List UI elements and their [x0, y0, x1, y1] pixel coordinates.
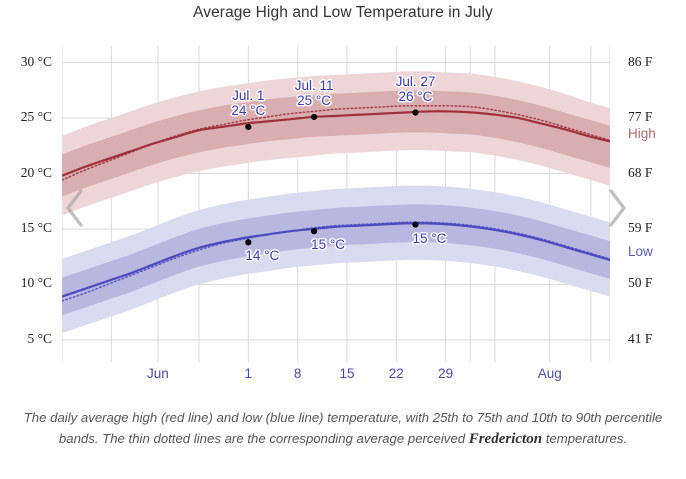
x-axis-tick: Aug	[538, 366, 562, 381]
plot-canvas	[62, 46, 610, 362]
y-axis-left: 30 °C25 °C20 °C15 °C10 °C5 °C	[0, 46, 57, 362]
x-axis-tick: 29	[438, 366, 453, 381]
y-axis-right-tick: 86 F	[628, 54, 652, 70]
y-axis-right-tick: 59 F	[628, 220, 652, 236]
y-axis-right-tick: 77 F	[628, 109, 652, 125]
x-axis-tick: 1	[245, 366, 253, 381]
page-title: Average High and Low Temperature in July	[0, 4, 686, 22]
x-axis-tick: 15	[339, 366, 354, 381]
series-label-high: High	[628, 126, 656, 141]
y-axis-left-tick: 25 °C	[21, 109, 52, 125]
caption-part2: temperatures.	[542, 431, 627, 446]
y-axis-left-tick: 10 °C	[21, 275, 52, 291]
chevron-left-icon[interactable]	[62, 186, 88, 230]
x-axis-tick: 22	[389, 366, 404, 381]
y-axis-left-tick: 20 °C	[21, 165, 52, 181]
y-axis-right-tick: 68 F	[628, 165, 652, 181]
y-axis-left-tick: 5 °C	[27, 331, 52, 347]
weather-chart: Average High and Low Temperature in July…	[0, 0, 686, 479]
x-axis-tick: 8	[294, 366, 302, 381]
y-axis-left-tick: 15 °C	[21, 220, 52, 236]
chart-caption: The daily average high (red line) and lo…	[22, 408, 664, 450]
x-axis: Jun18152229Aug	[62, 362, 610, 388]
series-label-low: Low	[628, 244, 653, 259]
y-axis-left-tick: 30 °C	[21, 54, 52, 70]
y-axis-right-tick: 41 F	[628, 331, 652, 347]
caption-location: Fredericton	[469, 431, 542, 447]
plot-area[interactable]	[62, 46, 610, 362]
x-axis-tick: Jun	[147, 366, 169, 381]
chevron-right-icon[interactable]	[604, 186, 630, 230]
y-axis-right-tick: 50 F	[628, 275, 652, 291]
